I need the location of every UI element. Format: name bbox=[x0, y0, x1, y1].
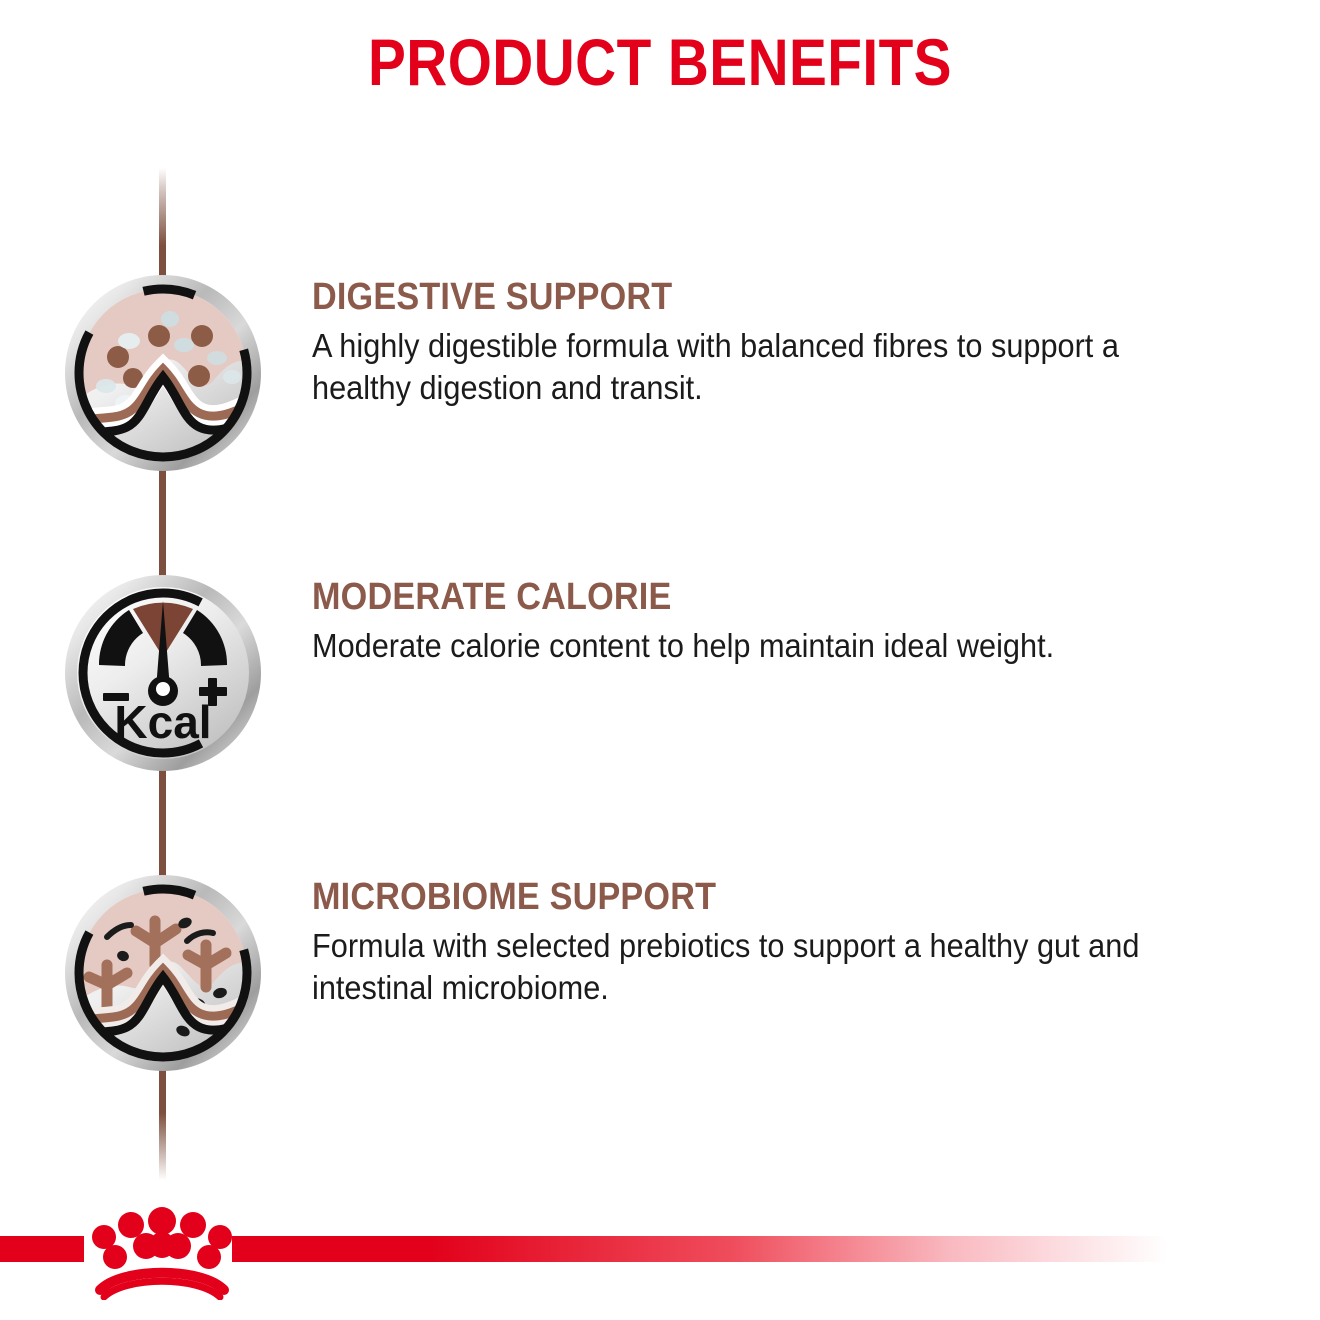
microbiome-support-text: MICROBIOME SUPPORT Formula with selected… bbox=[312, 875, 1288, 1009]
benefit-heading-digestive-support: DIGESTIVE SUPPORT bbox=[312, 275, 1190, 319]
benefit-heading-moderate-calorie: MODERATE CALORIE bbox=[312, 575, 1190, 619]
moderate-calorie-icon: Kcal bbox=[63, 573, 263, 773]
benefit-description-digestive-support: A highly digestible formula with balance… bbox=[312, 325, 1220, 409]
moderate-calorie-text: MODERATE CALORIE Moderate calorie conten… bbox=[312, 575, 1288, 667]
connector-line-middle-upper bbox=[159, 466, 166, 578]
royal-canin-crown-logo bbox=[88, 1204, 236, 1300]
benefit-row-digestive-support: DIGESTIVE SUPPORT A highly digestible fo… bbox=[0, 273, 1320, 473]
digestive-support-icon bbox=[63, 273, 263, 473]
page-title: PRODUCT BENEFITS bbox=[92, 24, 1227, 100]
benefit-row-moderate-calorie: Kcal MODERATE CALORIE Moderate calorie c… bbox=[0, 573, 1320, 773]
benefit-description-microbiome-support: Formula with selected prebiotics to supp… bbox=[312, 925, 1220, 1009]
footer bbox=[0, 1200, 1320, 1320]
benefit-heading-microbiome-support: MICROBIOME SUPPORT bbox=[312, 875, 1190, 919]
svg-text:Kcal: Kcal bbox=[114, 696, 211, 748]
benefit-description-moderate-calorie: Moderate calorie content to help maintai… bbox=[312, 625, 1220, 667]
connector-line-middle-lower bbox=[159, 766, 166, 878]
connector-line-bottom bbox=[159, 1068, 166, 1180]
footer-bar-right bbox=[232, 1236, 1320, 1262]
microbiome-support-icon bbox=[63, 873, 263, 1073]
digestive-support-text: DIGESTIVE SUPPORT A highly digestible fo… bbox=[312, 275, 1288, 409]
benefit-row-microbiome-support: MICROBIOME SUPPORT Formula with selected… bbox=[0, 873, 1320, 1073]
connector-line-top bbox=[159, 168, 166, 276]
footer-bar-left bbox=[0, 1236, 84, 1262]
